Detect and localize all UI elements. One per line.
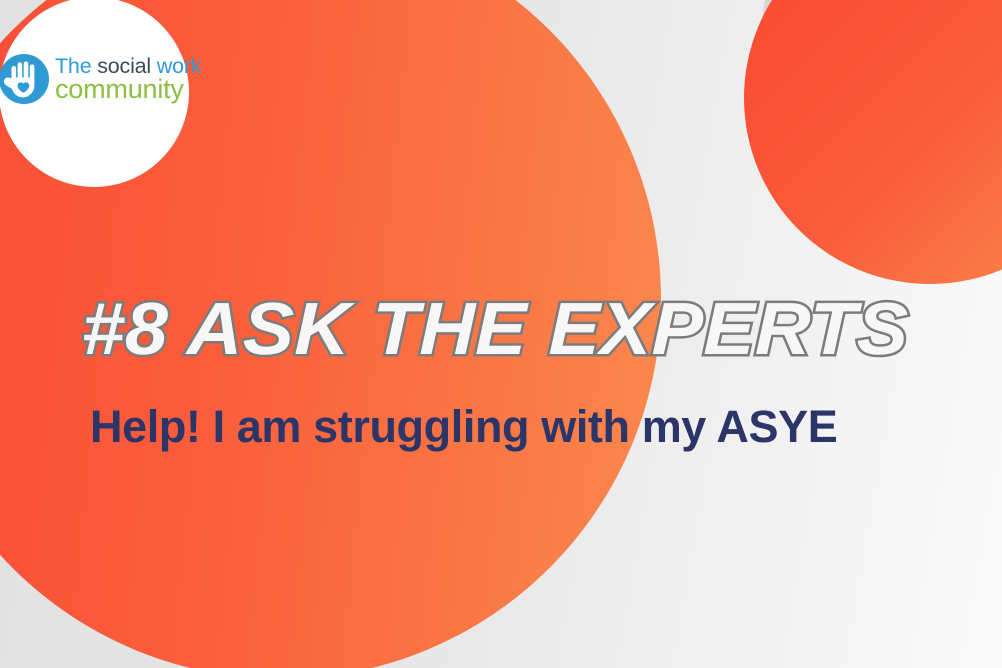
episode-headline: #8 ASK THE EXPERTS (81, 292, 1002, 366)
logo-wordmark: The social work community (55, 56, 201, 102)
hand-with-heart-icon (0, 54, 49, 104)
logo-line-one: The social work (55, 56, 201, 76)
top-right-orange-circle-shape (744, 0, 1002, 284)
logo-badge: The social work community (0, 0, 189, 187)
logo-word-community: community (55, 77, 201, 102)
logo-lockup: The social work community (0, 54, 201, 104)
podcast-cover-graphic: The social work community #8 ASK THE EXP… (0, 0, 1002, 668)
episode-subtitle: Help! I am struggling with my ASYE (90, 401, 970, 453)
